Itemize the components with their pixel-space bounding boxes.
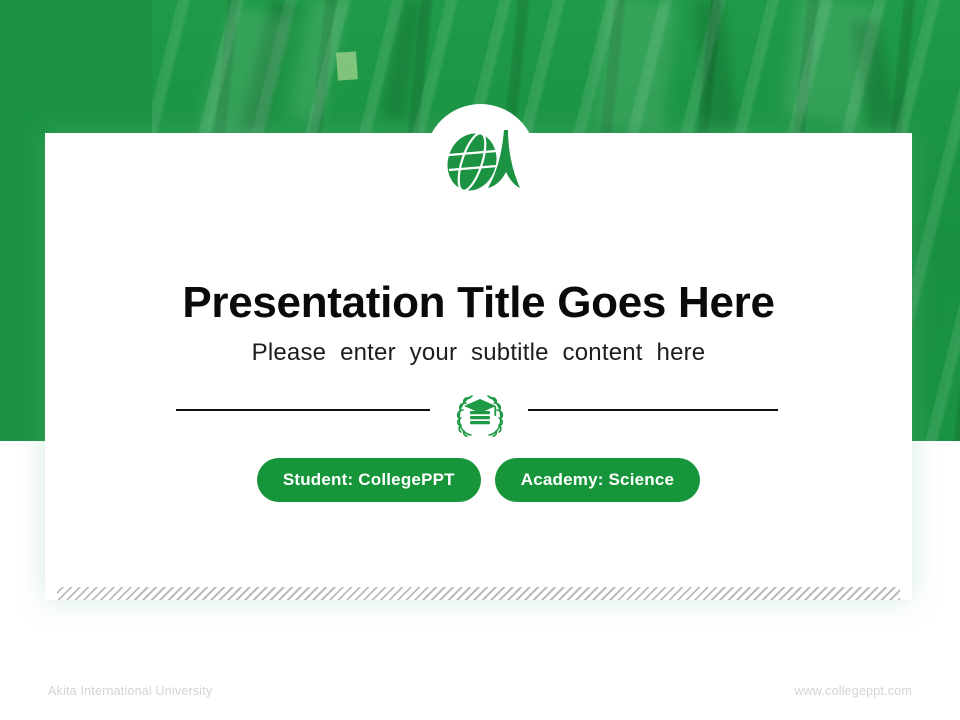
graduation-cap-laurel-emblem xyxy=(452,389,508,439)
presentation-slide: Presentation Title Goes Here Please ente… xyxy=(0,0,960,720)
card-bottom-hatch-strip xyxy=(57,587,900,600)
divider-line-left xyxy=(176,409,430,411)
academy-pill[interactable]: Academy: Science xyxy=(495,458,700,502)
footer-university-name: Akita International University xyxy=(48,684,212,698)
footer-website-url: www.collegeppt.com xyxy=(794,684,912,698)
divider-line-right xyxy=(528,409,778,411)
photo-note-detail xyxy=(336,51,358,80)
page-title: Presentation Title Goes Here xyxy=(45,278,912,328)
page-subtitle: Please enter your subtitle content here xyxy=(45,339,912,367)
meta-pill-row: Student: CollegePPT Academy: Science xyxy=(45,458,912,502)
university-globe-leaf-logo xyxy=(432,122,532,196)
student-pill[interactable]: Student: CollegePPT xyxy=(257,458,481,502)
